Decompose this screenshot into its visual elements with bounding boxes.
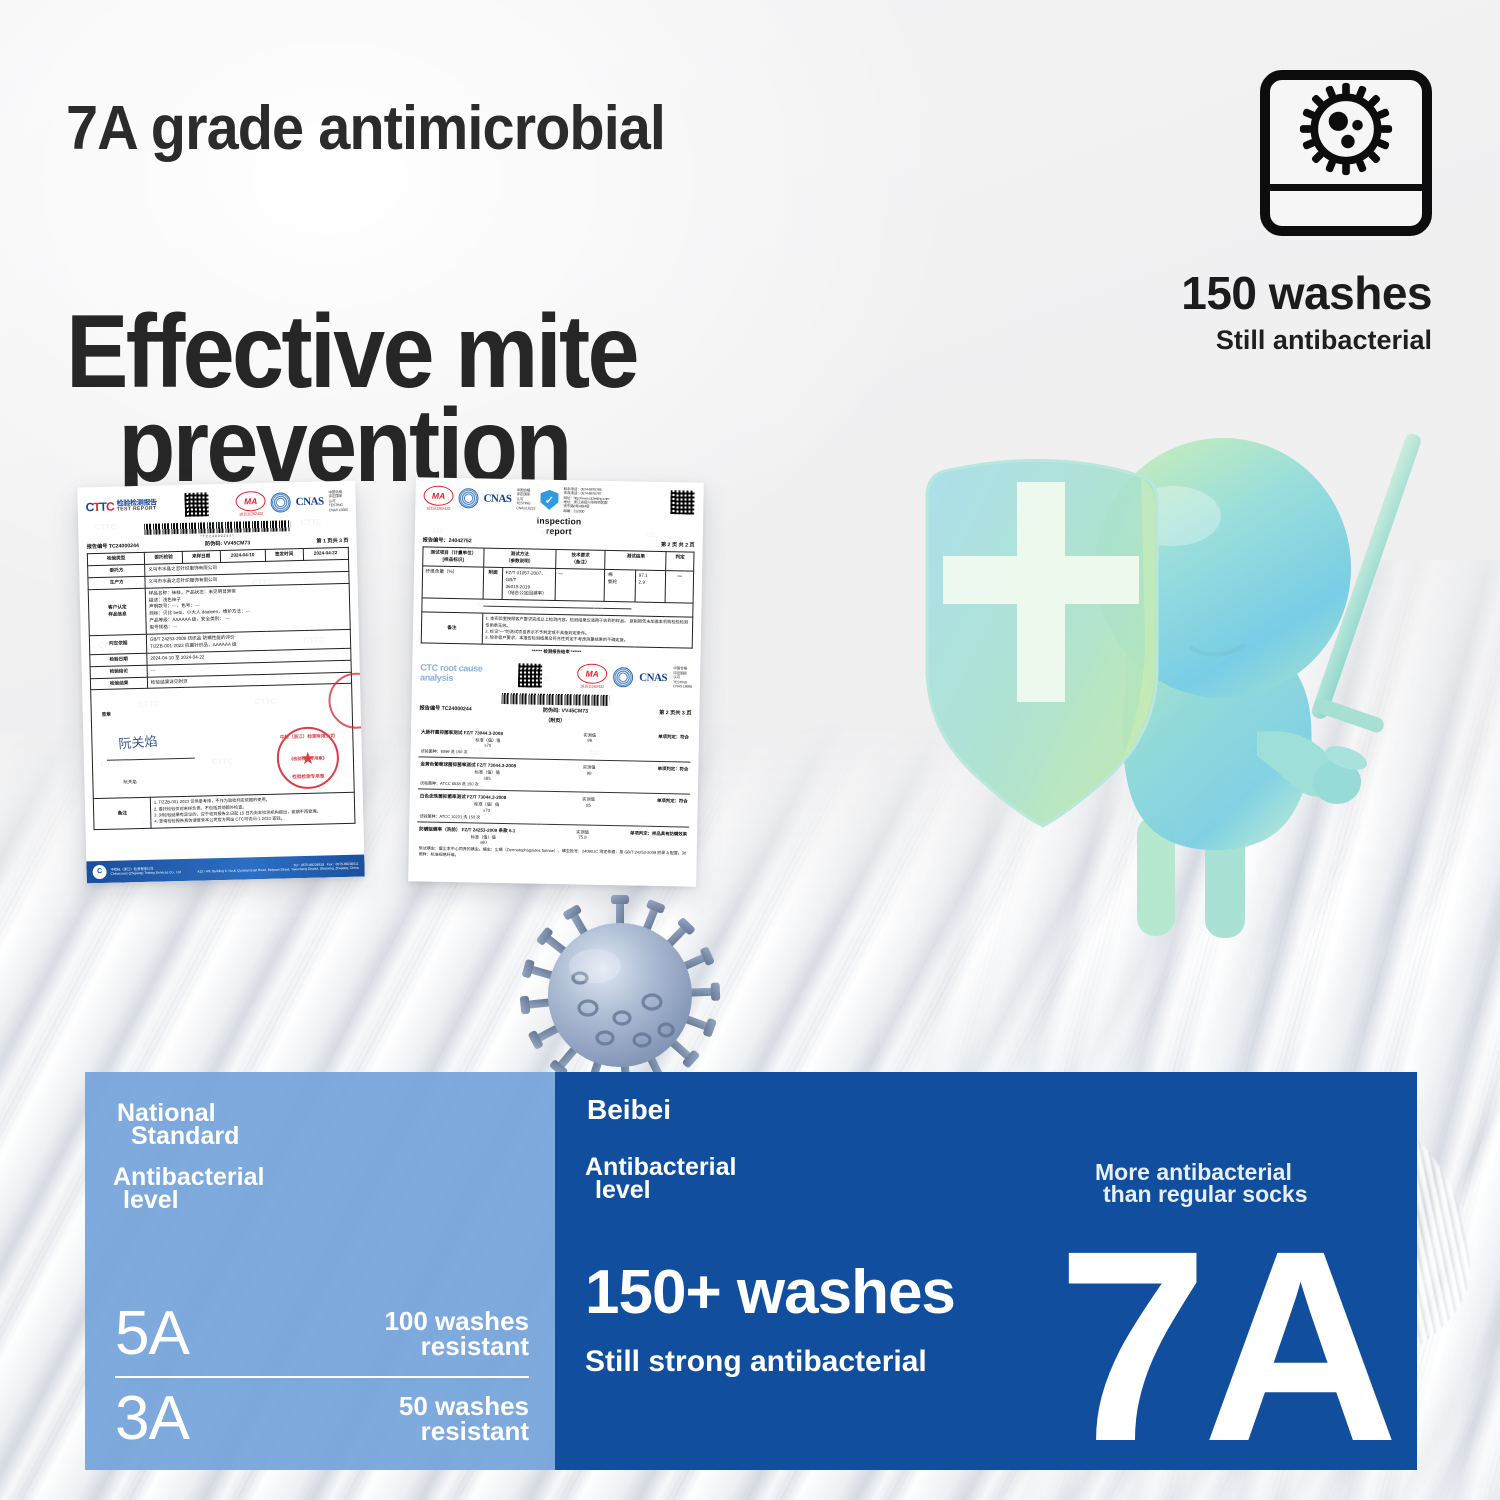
col-header-requirement: 技术要求（备注） [555, 550, 605, 570]
comparison-panel-beibei: Beibei Antibacterial level 150+ washes S… [555, 1072, 1417, 1470]
grade-value: 3A [115, 1388, 189, 1450]
result-verdict: 单项判定：符合 [623, 798, 687, 805]
grade-value: 5A [115, 1303, 189, 1365]
grade-note-line2: resistant [384, 1334, 529, 1359]
cell-verdict: — [665, 570, 693, 603]
washes-badge: 150 washes Still antibacterial [1072, 70, 1432, 354]
page-title: Effective mite prevention [66, 306, 637, 493]
report-number: 报告编号 TC24000244 [419, 704, 471, 712]
std-value: ≥70 [484, 743, 491, 748]
list-item: 白色念珠菌抑菌率测试 FZ/T 73044.3-2008 标准（值）值 ≥70 … [417, 790, 690, 828]
cell-result-value: 97.1 2.9 [635, 570, 666, 603]
cnas-accreditation-note: 中国合格评定国家认可TESTINGCNAS L6222 [516, 488, 535, 511]
measured-value: 98 [554, 770, 624, 777]
footer-company-en: Chinaccess (Zhejiang) Testing Services C… [111, 870, 181, 876]
std-value: ≥70 [483, 808, 490, 813]
panel-right-washes-subtitle: Still strong antibacterial [585, 1347, 927, 1377]
cnas-mark-icon: CNAS [483, 493, 511, 506]
cma-number: 181511262432 [423, 505, 453, 511]
signature-printed-name: 阮关焰 [123, 780, 136, 787]
panel-right-level-line2: level [585, 1179, 736, 1202]
table-row-notes: 备注 1. 本实验室按照客户要求完成以上检测内容，检测结果仅适用于收到的样品。 … [421, 612, 693, 647]
badge-divider [1270, 184, 1422, 191]
col-header-method: 测试方法（参数说明） [484, 548, 556, 568]
ilac-mra-mark-icon [613, 667, 633, 687]
table-row-signature: 签章 阮关焰 阮关焰 中检（浙江）检测有限公司 ★ 《检验检测专用章》 检验检测… [91, 684, 355, 799]
stamp-top-text: 中检（浙江）检测有限公司 [278, 734, 336, 742]
std-label: 标准（值）值 [475, 737, 500, 742]
report-table: 检验类型 委托检验 来样日期 2024-04-10 签发时间 2024-04-2… [87, 547, 356, 830]
eyebrow-headline: 7A grade antimicrobial [66, 98, 665, 160]
stamp-bottom-text: 检验检测专用章 [279, 773, 337, 781]
page-indicator: 第 1 页共 3 页 [316, 537, 348, 545]
cell-item: 纤维含量（%） [422, 566, 483, 600]
signature-area: 签章 阮关焰 阮关焰 中检（浙江）检测有限公司 ★ 《检验检测专用章》 检验检测… [91, 684, 354, 798]
row-c3: 签发时间 [265, 548, 303, 561]
table-row: 纤维含量（%） 附面 FZ/T 01057-2007、GB/T36015-201… [422, 566, 694, 604]
contact-line: 邮编：312000 [563, 509, 609, 514]
signature-rule [107, 758, 195, 761]
handwritten-signature: 阮关焰 [118, 732, 158, 754]
measured-value: 86 [555, 737, 625, 744]
cnas-mark-icon: CNAS [296, 495, 324, 508]
annex-label: （附页） [419, 714, 691, 726]
cnas-accreditation-note: 中国合格评定国家认可TESTINGCNAS L6666 [673, 667, 692, 690]
page-indicator: 第 2 页共 3 页 [659, 709, 691, 717]
comparison-panel-national-standard: National Standard Antibacterial level 5A… [85, 1072, 555, 1470]
cell-method: FZ/T 01057-2007、GB/T36015-2019（结合公定回潮率） [502, 567, 555, 601]
cttc-logo: CTTC 检验检测报告 TEST REPORT [86, 499, 158, 514]
result-verdict: 单项判定：符合 [625, 733, 689, 740]
notes-label: 备注 [93, 798, 151, 830]
certificate-document-right: ctcctcctc ctcctc ctcctcctc ctcctc ctcctc… [408, 477, 704, 886]
report-number: 报告编号 TC24000244 [87, 542, 139, 550]
report-number: 报告编号：24042752 [423, 536, 472, 544]
cma-mark-icon: MA [423, 485, 453, 506]
cttc-logo-mark: CTTC [86, 501, 114, 514]
panel-left-level-label: Antibacterial level [113, 1166, 264, 1212]
rca-line2: analysis [420, 673, 482, 684]
panel-left-brand-line2: Standard [117, 1125, 239, 1148]
list-item: 防螨驱螨率（洗前） FZ/T 24253-2009 条款 6.1 标准（值）值 … [417, 822, 690, 865]
report-end-marker: ****** 检测报告结束 ****** [421, 646, 693, 657]
inspection-result-table: 测试项目（计量单位）[样品标识] 测试方法（参数说明） 技术要求（备注） 测试结… [421, 546, 695, 648]
contact-block: 联系电话：0574-8876786 传真电话：0574-8876787 网址：h… [563, 487, 610, 515]
col-header-verdict: 判定 [666, 552, 694, 571]
shield-knight-mascot [905, 420, 1465, 940]
cma-mark-icon: MA [577, 663, 607, 684]
badge-subtitle: Still antibacterial [1072, 327, 1432, 354]
panel-right-level-label: Antibacterial level [585, 1156, 736, 1202]
notes-label: 备注 [421, 612, 482, 643]
table-row: 客户认定样品信息 样品名称：袜样，产品状态：未见明显异常 描述：浅色袜子 声明款… [88, 583, 350, 636]
std-label: 标准（值）值 [475, 769, 500, 774]
barcode-icon [501, 693, 610, 706]
std-label: 标准（值）值 [474, 802, 499, 807]
ctc-root-cause-analysis-logo: CTC root cause analysis [420, 663, 483, 684]
grade-note-line2: resistant [399, 1419, 529, 1444]
grade-7a-display: 7A [1055, 1210, 1395, 1482]
result-name: 氨纶 [608, 579, 633, 586]
row-c1: 来样日期 [182, 550, 220, 563]
anti-counterfeit-code: 防伪码: VV45CM73 [205, 539, 250, 547]
qr-code-icon [183, 491, 210, 518]
results-list: 大肠杆菌抑菌率测试 FZ/T 73044.3-2008 标准（值）值 ≥70 实… [417, 725, 692, 865]
signature-label: 签章 [102, 712, 111, 719]
std-value: ≥60 [480, 840, 487, 845]
list-item: 大肠杆菌抑菌率测试 FZ/T 73044.3-2008 标准（值）值 ≥70 实… [419, 725, 692, 763]
list-item: 金黄色葡萄球菌抑菌率测试 FZ/T 73044.3-2008 标准（值）值 ≥8… [418, 757, 691, 795]
list-item: 3A 50 washes resistant [115, 1376, 529, 1460]
panel-left-level-line2: level [113, 1189, 264, 1212]
list-item: 5A 100 washes resistant [115, 1292, 529, 1376]
cma-number: 181511262432 [236, 510, 266, 516]
official-stamp-icon: 中检（浙江）检测有限公司 ★ 《检验检测专用章》 检验检测专用章 [276, 727, 339, 790]
cma-mark-icon: MA [235, 490, 265, 511]
ilac-mra-mark-icon [458, 488, 478, 508]
ilac-mra-mark-icon [270, 492, 290, 512]
cnas-mark-icon: CNAS [639, 671, 667, 684]
cell-method-tag: 附面 [483, 567, 503, 600]
row-value-lines: 样品名称：袜样，产品状态：未见明显异常 描述：浅色袜子 声明款号：---，色号：… [146, 583, 351, 634]
std-value: ≥85 [484, 775, 491, 780]
notes-body: 1. 本实验室按照客户要求完成以上检测内容，检测结果仅适用于收到的样品。 复制报… [482, 613, 693, 647]
measured-value: 75.8 [548, 834, 618, 841]
row-value: 委托检验 [145, 551, 183, 564]
grade-note: 50 washes resistant [399, 1394, 529, 1443]
row-label: 客户认定样品信息 [88, 588, 147, 636]
std-label: 标准（值）值 [471, 834, 496, 839]
rca-row: CTC root cause analysis MA 181511262432 … [420, 660, 692, 691]
badge-washes-label: 150 washes [1072, 270, 1432, 316]
cell-result-name: 棉 氨纶 [605, 569, 636, 602]
qr-code-icon [669, 489, 695, 515]
separator-line [483, 606, 631, 610]
verified-shield-icon: ✓ [540, 490, 558, 510]
result-verdict: 单项判定：符合 [624, 765, 688, 772]
panel-left-grade-rows: 5A 100 washes resistant 3A 50 washes res… [115, 1292, 529, 1460]
qr-code-icon [517, 662, 543, 688]
col-header-item: 测试项目（计量单位）[样品标识] [423, 547, 484, 567]
doc-right-header: MA 181511262432 CNAS 中国合格评定国家认可TESTINGCN… [423, 484, 695, 515]
stamp-mid-text: 《检验检测专用章》 [279, 756, 337, 764]
inspection-report-title: inspection report [423, 514, 695, 538]
result-value: 2.9 [638, 579, 662, 586]
bacteria-icon [1260, 70, 1432, 236]
page-indicator: 第 2 页 共 2 页 [661, 541, 695, 549]
panel-right-brand: Beibei [587, 1096, 671, 1124]
virus-particle [470, 890, 770, 1090]
cell-requirement: — [555, 568, 605, 602]
certificate-document-left: CTTCCTTCCTTC CTTCCTTC CTTCCTTCCTTC CTTCC… [77, 481, 365, 884]
cnas-accreditation-note: 中国合格评定国家认可TESTINGCNAS L6666 [328, 490, 348, 513]
cma-number: 181511262432 [577, 683, 607, 689]
row-label: 判定依据 [89, 634, 147, 654]
cttc-logo-en: TEST REPORT [117, 506, 157, 512]
grade-note: 100 washes resistant [384, 1309, 529, 1358]
col-header-result: 测试结果 [605, 550, 666, 570]
table-row-notes: 备注 1. T/ZZB-001-2023 仅供参考用，不作为验收判定依据的使用。… [93, 793, 355, 830]
company-logo-icon: C [92, 865, 106, 879]
anti-counterfeit-code: 防伪码: VV45CM73 [543, 706, 588, 714]
notes-body: 1. T/ZZB-001-2023 仅供参考用，不作为验收判定依据的使用。 2.… [151, 793, 355, 828]
doc-left-header: CTTC 检验检测报告 TEST REPORT MA 181511262432 … [85, 488, 348, 520]
panel-right-washes: 150+ washes [585, 1262, 955, 1324]
measured-value: 85 [554, 802, 624, 809]
result-verdict: 单项判定：样品具有防螨效果 [617, 830, 687, 837]
panel-left-brand: National Standard [117, 1102, 239, 1148]
